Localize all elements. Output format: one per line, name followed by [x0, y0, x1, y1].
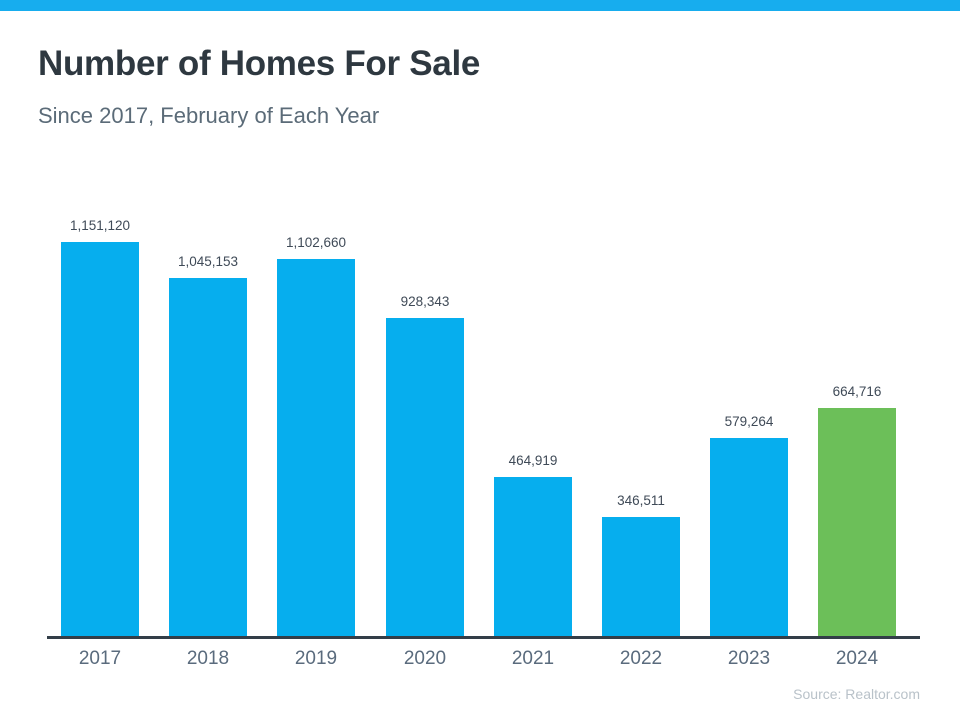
bar-2018[interactable] — [169, 278, 247, 636]
bar-2023[interactable] — [710, 438, 788, 636]
bar-value-label-2023: 579,264 — [710, 414, 788, 429]
bar-value-label-2019: 1,102,660 — [277, 235, 355, 250]
x-tick-2017: 2017 — [61, 648, 139, 670]
bar-chart: 1,151,1201,045,1531,102,660928,343464,91… — [0, 0, 960, 720]
source-note: Source: Realtor.com — [793, 686, 920, 702]
bar-value-label-2017: 1,151,120 — [61, 218, 139, 233]
bar-2020[interactable] — [386, 318, 464, 636]
x-axis-line — [47, 636, 920, 639]
x-tick-2022: 2022 — [602, 648, 680, 670]
bar-value-label-2021: 464,919 — [494, 453, 572, 468]
bar-2024[interactable] — [818, 408, 896, 636]
bar-2022[interactable] — [602, 517, 680, 636]
x-tick-2021: 2021 — [494, 648, 572, 670]
x-tick-2024: 2024 — [818, 648, 896, 670]
bar-2019[interactable] — [277, 259, 355, 636]
bar-value-label-2024: 664,716 — [818, 384, 896, 399]
bar-value-label-2022: 346,511 — [602, 493, 680, 508]
x-tick-2020: 2020 — [386, 648, 464, 670]
x-tick-2018: 2018 — [169, 648, 247, 670]
chart-page: Number of Homes For Sale Since 2017, Feb… — [0, 0, 960, 720]
bar-value-label-2020: 928,343 — [386, 294, 464, 309]
x-tick-2023: 2023 — [710, 648, 788, 670]
bar-value-label-2018: 1,045,153 — [169, 254, 247, 269]
bar-2021[interactable] — [494, 477, 572, 636]
x-tick-2019: 2019 — [277, 648, 355, 670]
bar-2017[interactable] — [61, 242, 139, 636]
